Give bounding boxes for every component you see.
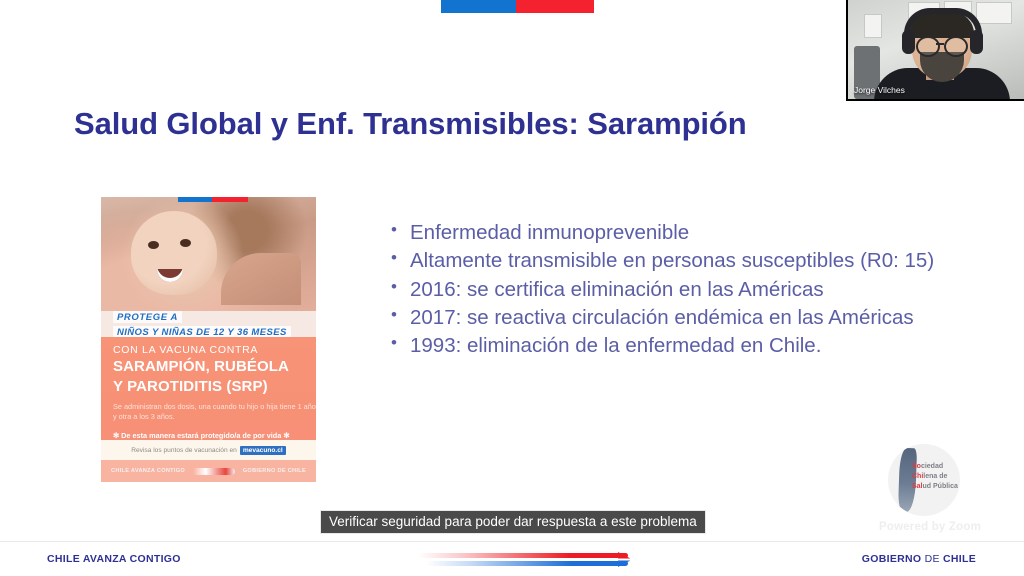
wall-paper-1 — [864, 14, 882, 38]
slide-footer: CHILE AVANZA CONTIGO GOBIERNO DE CHILE — [0, 541, 1024, 576]
poster-footer-left: CHILE AVANZA CONTIGO — [111, 468, 185, 474]
list-item: 2017: se reactiva circulación endémica e… — [388, 304, 948, 332]
eyeglasses-lens-right — [944, 36, 968, 57]
poster-kicker-block: PROTEGE A NIÑOS Y NIÑAS DE 12 Y 36 MESES — [101, 307, 316, 338]
poster-headline-2: Y PAROTIDITIS (SRP) — [113, 379, 316, 396]
logo-line-1: Sociedad — [912, 462, 958, 472]
poster-promise: ✻ De esta manera estará protegido/a de p… — [113, 431, 316, 440]
poster-flag-blue — [178, 197, 212, 202]
powered-by-zoom-watermark: Powered by Zoom — [860, 521, 1000, 533]
logo-line-1-accent: So — [912, 463, 921, 470]
list-item: 1993: eliminación de la enfermedad en Ch… — [388, 332, 948, 360]
eyeglasses-bridge — [936, 43, 944, 45]
wall-paper-4 — [976, 2, 1012, 24]
poster-footer: CHILE AVANZA CONTIGO GOBIERNO DE CHILE — [101, 460, 316, 482]
logo-line-3: Salud Pública — [912, 482, 958, 492]
baby-eye-right — [180, 239, 191, 247]
logo-line-2-accent: Chi — [912, 473, 923, 480]
headphones-band-icon — [904, 8, 982, 34]
presentation-slide: Salud Global y Enf. Transmisibles: Saram… — [0, 0, 1024, 576]
swoosh-blue-stripe — [426, 561, 628, 566]
swoosh-red-stripe — [418, 553, 628, 558]
poster-baby-photo — [101, 197, 316, 311]
poster-flag-red — [212, 197, 248, 202]
poster-detail: Se administran dos dosis, una cuando tu … — [113, 402, 316, 423]
sociedad-chilena-salud-publica-logo: Sociedad Chilena de Salud Pública — [888, 444, 960, 516]
list-item: Enfermedad inmunoprevenible — [388, 219, 948, 247]
chile-flag-blue-bar — [441, 0, 516, 13]
headphone-earcup-right — [970, 30, 983, 54]
logo-line-3-rest: ud Pública — [923, 483, 958, 490]
page-title: Salud Global y Enf. Transmisibles: Saram… — [74, 106, 747, 142]
poster-revisa-bar: Revisa los puntos de vacunación en mevac… — [101, 440, 316, 460]
logo-text: Sociedad Chilena de Salud Pública — [912, 462, 958, 492]
footer-tagline: CHILE AVANZA CONTIGO — [47, 553, 181, 565]
headphone-earcup-left — [902, 30, 915, 54]
eyeglasses-lens-left — [916, 36, 940, 57]
logo-line-2: Chilena de — [912, 472, 958, 482]
poster-message-block: CON LA VACUNA CONTRA SARAMPIÓN, RUBÉOLA … — [101, 337, 316, 440]
chile-flag-red-bar — [516, 0, 594, 13]
participant-name-label: Jorge Vilches — [854, 85, 905, 95]
footer-brand-part-2: CHILE — [943, 553, 976, 565]
baby-eye-left — [148, 241, 159, 249]
poster-lead: CON LA VACUNA CONTRA — [113, 344, 316, 356]
live-caption-bar: Verificar seguridad para poder dar respu… — [320, 510, 706, 534]
poster-swoosh-graphic — [193, 468, 235, 475]
bullet-list-container: Enfermedad inmunoprevenible Altamente tr… — [388, 219, 948, 360]
participant-video-tile[interactable]: Jorge Vilches — [846, 0, 1024, 101]
poster-headline-1: SARAMPIÓN, RUBÉOLA — [113, 359, 316, 376]
vaccination-poster: PROTEGE A NIÑOS Y NIÑAS DE 12 Y 36 MESES… — [101, 197, 316, 482]
list-item: Altamente transmisible en personas susce… — [388, 247, 948, 275]
poster-kicker: PROTEGE A — [113, 311, 182, 323]
footer-government-brand: GOBIERNO DE CHILE — [862, 553, 976, 565]
list-item: 2016: se certifica eliminación en las Am… — [388, 276, 948, 304]
bullet-list: Enfermedad inmunoprevenible Altamente tr… — [388, 219, 948, 360]
footer-brand-connector: DE — [921, 553, 943, 565]
baby-arm — [221, 253, 301, 305]
baby-head — [131, 211, 217, 295]
gobierno-swoosh-graphic — [418, 551, 628, 568]
logo-line-1-rest: ciedad — [921, 463, 943, 470]
logo-line-3-accent: Sal — [912, 483, 923, 490]
poster-revisa-site: mevacuno.cl — [240, 446, 286, 455]
logo-line-2-rest: lena de — [923, 473, 947, 480]
poster-revisa-text: Revisa los puntos de vacunación en — [131, 447, 237, 454]
poster-footer-right: GOBIERNO DE CHILE — [243, 468, 306, 474]
footer-brand-part-1: GOBIERNO — [862, 553, 922, 565]
